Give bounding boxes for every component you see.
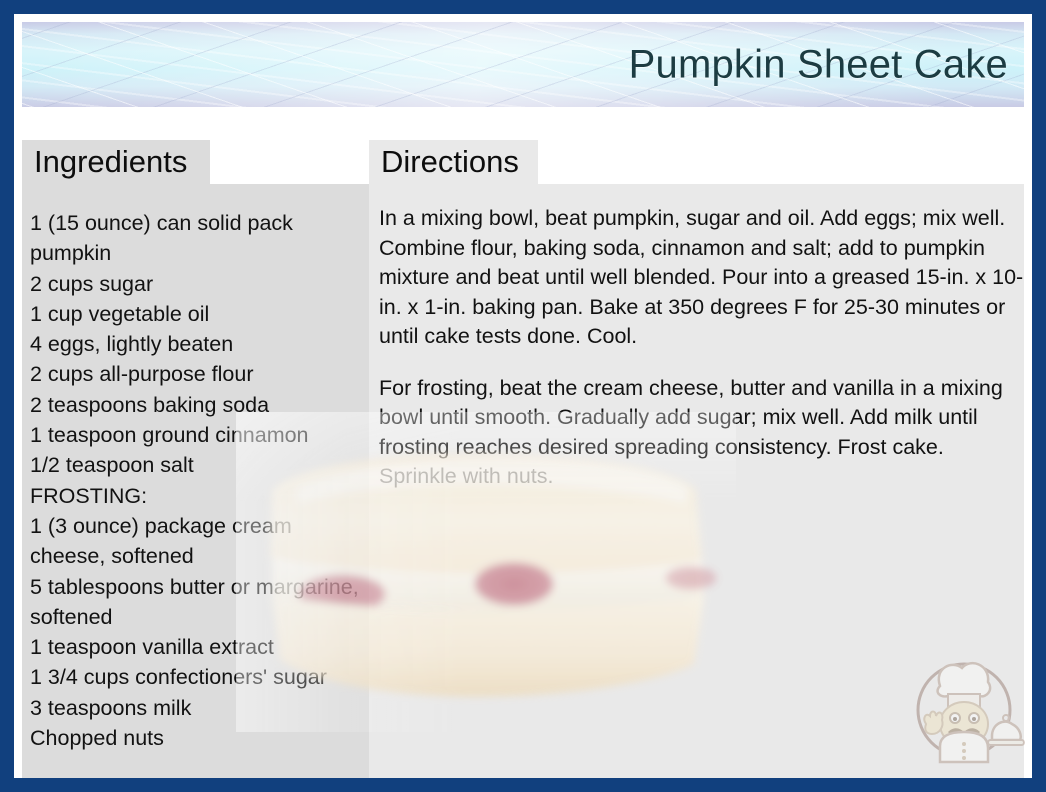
card-inner: Pumpkin Sheet Cake Ingredients Direction… [14,14,1032,778]
ingredient-item: 1 3/4 cups confectioners' sugar [30,662,360,692]
ingredient-item: 1 teaspoon ground cinnamon [30,420,360,450]
ingredient-item: 2 teaspoons baking soda [30,390,360,420]
ingredient-item: Chopped nuts [30,723,360,753]
ingredients-tab-gap [210,140,370,184]
ingredient-item: 5 tablespoons butter or margarine, softe… [30,572,360,633]
ingredient-item: 1 (15 ounce) can solid pack pumpkin [30,208,360,269]
direction-paragraph: In a mixing bowl, beat pumpkin, sugar an… [379,204,1024,352]
section-heading-ingredients: Ingredients [22,140,210,184]
page-title: Pumpkin Sheet Cake [629,42,1008,87]
directions-text: In a mixing bowl, beat pumpkin, sugar an… [379,204,1024,492]
ingredient-item: 4 eggs, lightly beaten [30,329,360,359]
ingredient-item: 1 (3 ounce) package cream cheese, soften… [30,511,360,572]
ingredient-item: 2 cups all-purpose flour [30,359,360,389]
ingredient-item: 3 teaspoons milk [30,693,360,723]
ingredient-item: 1 cup vegetable oil [30,299,360,329]
header-banner: Pumpkin Sheet Cake [22,22,1024,107]
ingredient-item: FROSTING: [30,481,360,511]
ingredients-panel: 1 (15 ounce) can solid pack pumpkin2 cup… [22,184,370,790]
ingredients-list: 1 (15 ounce) can solid pack pumpkin2 cup… [30,208,360,753]
direction-paragraph: For frosting, beat the cream cheese, but… [379,374,1024,492]
recipe-card: Pumpkin Sheet Cake Ingredients Direction… [0,0,1046,792]
ingredient-item: 1 teaspoon vanilla extract [30,632,360,662]
section-heading-directions: Directions [369,140,538,184]
directions-panel: In a mixing bowl, beat pumpkin, sugar an… [369,184,1024,790]
ingredient-item: 1/2 teaspoon salt [30,450,360,480]
directions-tab-gap [538,140,1024,184]
ingredient-item: 2 cups sugar [30,269,360,299]
